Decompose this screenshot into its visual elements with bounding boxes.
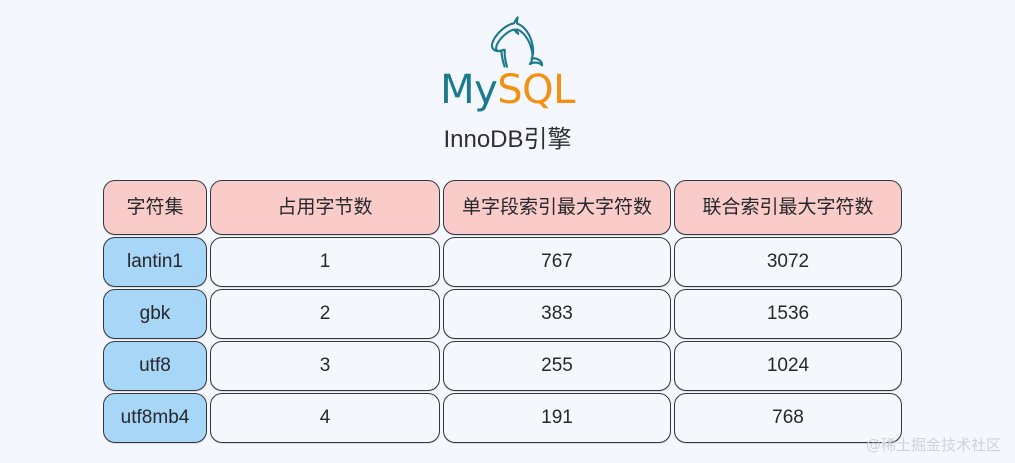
watermark: @稀土掘金技术社区 <box>866 435 1001 455</box>
cell-charset: gbk <box>103 289 207 339</box>
page-root: MySQL InnoDB引擎 字符集 占用字节数 单字段索引最大字符数 联合索引… <box>0 0 1015 463</box>
cell-bytes: 2 <box>210 289 440 339</box>
table-header-row: 字符集 占用字节数 单字段索引最大字符数 联合索引最大字符数 <box>103 180 902 235</box>
cell-charset: utf8 <box>103 341 207 391</box>
table-row: gbk 2 383 1536 <box>103 289 902 339</box>
cell-charset: lantin1 <box>103 237 207 287</box>
table-row: lantin1 1 767 3072 <box>103 237 902 287</box>
cell-single-index-max: 383 <box>443 289 671 339</box>
cell-composite-index-max: 3072 <box>674 237 902 287</box>
page-title: InnoDB引擎 <box>0 126 1015 154</box>
charset-limits-table: 字符集 占用字节数 单字段索引最大字符数 联合索引最大字符数 lantin1 1… <box>103 180 902 443</box>
table-row: utf8mb4 4 191 768 <box>103 393 902 443</box>
cell-composite-index-max: 1536 <box>674 289 902 339</box>
column-header-charset: 字符集 <box>103 180 207 235</box>
cell-bytes: 1 <box>210 237 440 287</box>
mysql-wordmark-my: My <box>440 67 497 113</box>
column-header-single-index-max: 单字段索引最大字符数 <box>443 180 671 235</box>
column-header-composite-index-max: 联合索引最大字符数 <box>674 180 902 235</box>
cell-single-index-max: 191 <box>443 393 671 443</box>
table-row: utf8 3 255 1024 <box>103 341 902 391</box>
mysql-logo-block: MySQL InnoDB引擎 <box>0 12 1015 154</box>
column-header-bytes: 占用字节数 <box>210 180 440 235</box>
cell-bytes: 4 <box>210 393 440 443</box>
cell-composite-index-max: 1024 <box>674 341 902 391</box>
mysql-dolphin-icon <box>471 12 545 70</box>
cell-single-index-max: 255 <box>443 341 671 391</box>
cell-bytes: 3 <box>210 341 440 391</box>
mysql-wordmark: MySQL <box>0 68 1015 112</box>
cell-charset: utf8mb4 <box>103 393 207 443</box>
cell-single-index-max: 767 <box>443 237 671 287</box>
mysql-wordmark-sql: SQL <box>497 67 575 113</box>
